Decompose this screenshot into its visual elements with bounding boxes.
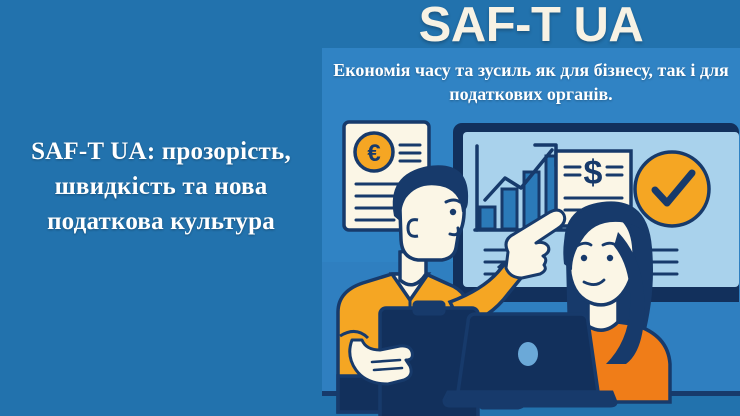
left-headline: SAF-T UA: прозорість, швидкість та нова …: [0, 134, 322, 239]
check-circle: [635, 152, 709, 226]
chart-bar-2: [502, 189, 517, 229]
man-ear: [408, 220, 418, 237]
page-subtitle: Економія часу та зусиль як для бізнесу, …: [322, 58, 740, 106]
man-eye: [450, 209, 456, 215]
slide-canvas: SAF-T UA: прозорість, швидкість та нова …: [0, 0, 740, 416]
chart-bar-1: [480, 207, 495, 229]
laptop-logo: [518, 342, 538, 366]
clipboard-clip: [414, 302, 444, 314]
laptop-base: [444, 392, 616, 406]
checkmark-badge: [635, 152, 709, 226]
woman-eye-2: [607, 255, 613, 261]
dollar-symbol: $: [584, 154, 603, 192]
euro-symbol: €: [367, 140, 380, 167]
illustration: $ €: [322, 112, 740, 416]
woman-eye-1: [581, 255, 587, 261]
laptop: [444, 314, 616, 406]
illustration-svg: $ €: [322, 112, 740, 416]
page-title: SAF-T UA: [322, 0, 740, 51]
